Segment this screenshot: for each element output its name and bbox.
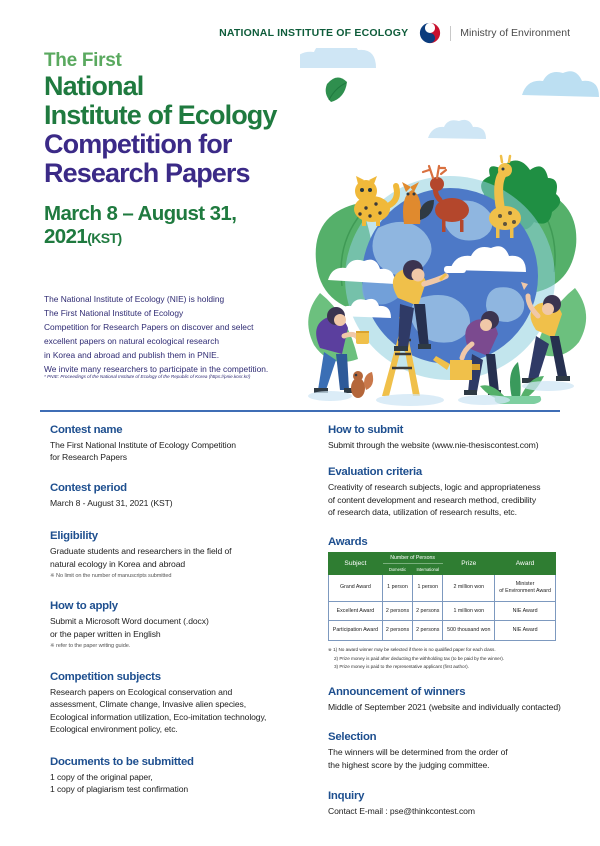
section-awards: Awards Subject Number of Persons Prize A… xyxy=(328,536,573,671)
cell-subject: Excellent Award xyxy=(329,601,383,621)
institute-name: NATIONAL INSTITUTE OF ECOLOGY xyxy=(219,27,408,39)
body-competition-subjects: Research papers on Ecological conservati… xyxy=(50,686,305,736)
section-how-to-submit: How to submit Submit through the website… xyxy=(328,424,573,451)
awards-note-2: 2) Prize money is paid after deducting t… xyxy=(328,655,573,663)
title-the-first: The First xyxy=(44,50,344,72)
heading-announcement: Announcement of winners xyxy=(328,686,573,698)
title-research-papers: Research Papers xyxy=(44,159,344,188)
cell-domestic: 2 persons xyxy=(382,621,412,641)
title-national: National xyxy=(44,72,344,101)
awards-table-header-row: Subject Number of Persons Prize Award xyxy=(329,552,556,564)
cell-subject: Grand Award xyxy=(329,574,383,601)
body-eligibility: Graduate students and researchers in the… xyxy=(50,545,305,570)
cell-international: 2 persons xyxy=(413,601,443,621)
ministry-name: Ministry of Environment xyxy=(460,27,570,39)
heading-contest-name: Contest name xyxy=(50,424,305,436)
section-how-to-apply: How to apply Submit a Microsoft Word doc… xyxy=(50,600,305,651)
body-how-to-submit: Submit through the website (www.nie-thes… xyxy=(328,439,573,451)
cell-international: 1 person xyxy=(413,574,443,601)
th-prize: Prize xyxy=(443,552,495,574)
cell-domestic: 1 person xyxy=(382,574,412,601)
heading-contest-period: Contest period xyxy=(50,482,305,494)
heading-competition-subjects: Competition subjects xyxy=(50,671,305,683)
table-row: Participation Award 2 persons 2 persons … xyxy=(329,621,556,641)
taegeuk-icon xyxy=(419,22,441,44)
awards-notes: ※ 1) No award winner may be selected if … xyxy=(328,646,573,671)
note-how-to-apply: ※ refer to the paper writing guide. xyxy=(50,643,305,651)
awards-table: Subject Number of Persons Prize Award Do… xyxy=(328,552,556,642)
th-number-of-persons: Number of Persons xyxy=(382,552,443,564)
section-competition-subjects: Competition subjects Research papers on … xyxy=(50,671,305,736)
th-domestic: Domestic xyxy=(382,564,412,574)
section-selection: Selection The winners will be determined… xyxy=(328,731,573,771)
th-subject: Subject xyxy=(329,552,383,574)
cell-international: 2 persons xyxy=(413,621,443,641)
poster-title-block: The First National Institute of Ecology … xyxy=(44,50,344,249)
cell-award: NIE Award xyxy=(495,601,556,621)
cell-prize: 500 thousand won xyxy=(443,621,495,641)
pnie-footnote: * PNIE: Proceedings of the National Inst… xyxy=(44,374,344,380)
right-column: How to submit Submit through the website… xyxy=(328,424,573,831)
heading-selection: Selection xyxy=(328,731,573,743)
body-selection: The winners will be determined from the … xyxy=(328,746,573,771)
section-inquiry: Inquiry Contact E-mail : pse@thinkcontes… xyxy=(328,790,573,817)
left-column: Contest name The First National Institut… xyxy=(50,424,305,809)
date-kst: (KST) xyxy=(87,230,121,246)
heading-awards: Awards xyxy=(328,536,573,548)
intro-paragraph: The National Institute of Ecology (NIE) … xyxy=(44,293,334,377)
header-divider xyxy=(450,26,451,41)
th-international: International xyxy=(413,564,443,574)
awards-table-body: Grand Award 1 person 1 person 2 million … xyxy=(329,574,556,641)
heading-documents: Documents to be submitted xyxy=(50,756,305,768)
heading-inquiry: Inquiry xyxy=(328,790,573,802)
cell-award: NIE Award xyxy=(495,621,556,641)
poster-header: NATIONAL INSTITUTE OF ECOLOGY Ministry o… xyxy=(0,21,600,45)
heading-how-to-apply: How to apply xyxy=(50,600,305,612)
th-award: Award xyxy=(495,552,556,574)
cell-domestic: 2 persons xyxy=(382,601,412,621)
date-year: 2021 xyxy=(44,225,87,248)
body-inquiry: Contact E-mail : pse@thinkcontest.com xyxy=(328,805,573,817)
table-row: Grand Award 1 person 1 person 2 million … xyxy=(329,574,556,601)
column-separator xyxy=(311,424,312,828)
note-eligibility: ※ No limit on the number of manuscripts … xyxy=(50,573,305,581)
table-row: Excellent Award 2 persons 2 persons 1 mi… xyxy=(329,601,556,621)
cell-prize: 2 million won xyxy=(443,574,495,601)
body-how-to-apply: Submit a Microsoft Word document (.docx)… xyxy=(50,615,305,640)
section-contest-name: Contest name The First National Institut… xyxy=(50,424,305,464)
awards-note-3: 3) Prize money is paid to the representa… xyxy=(328,663,573,671)
date-line-one: March 8 – August 31, xyxy=(44,202,236,225)
section-divider xyxy=(40,410,560,412)
section-documents: Documents to be submitted 1 copy of the … xyxy=(50,756,305,796)
heading-evaluation-criteria: Evaluation criteria xyxy=(328,466,573,478)
heading-how-to-submit: How to submit xyxy=(328,424,573,436)
awards-note-1: ※ 1) No award winner may be selected if … xyxy=(328,646,573,654)
cell-subject: Participation Award xyxy=(329,621,383,641)
body-evaluation-criteria: Creativity of research subjects, logic a… xyxy=(328,481,573,518)
section-announcement: Announcement of winners Middle of Septem… xyxy=(328,686,573,713)
cell-award: Minister of Environment Award xyxy=(495,574,556,601)
section-evaluation-criteria: Evaluation criteria Creativity of resear… xyxy=(328,466,573,518)
heading-eligibility: Eligibility xyxy=(50,530,305,542)
ecology-illustration xyxy=(300,48,600,408)
title-institute-of-ecology: Institute of Ecology xyxy=(44,101,344,130)
cell-prize: 1 million won xyxy=(443,601,495,621)
section-eligibility: Eligibility Graduate students and resear… xyxy=(50,530,305,581)
section-contest-period: Contest period March 8 - August 31, 2021… xyxy=(50,482,305,509)
title-competition-for: Competition for xyxy=(44,130,344,159)
title-date-range: March 8 – August 31, 2021(KST) xyxy=(44,203,344,249)
body-documents: 1 copy of the original paper, 1 copy of … xyxy=(50,771,305,796)
body-contest-period: March 8 - August 31, 2021 (KST) xyxy=(50,497,305,509)
body-contest-name: The First National Institute of Ecology … xyxy=(50,439,305,464)
body-announcement: Middle of September 2021 (website and in… xyxy=(328,701,573,713)
